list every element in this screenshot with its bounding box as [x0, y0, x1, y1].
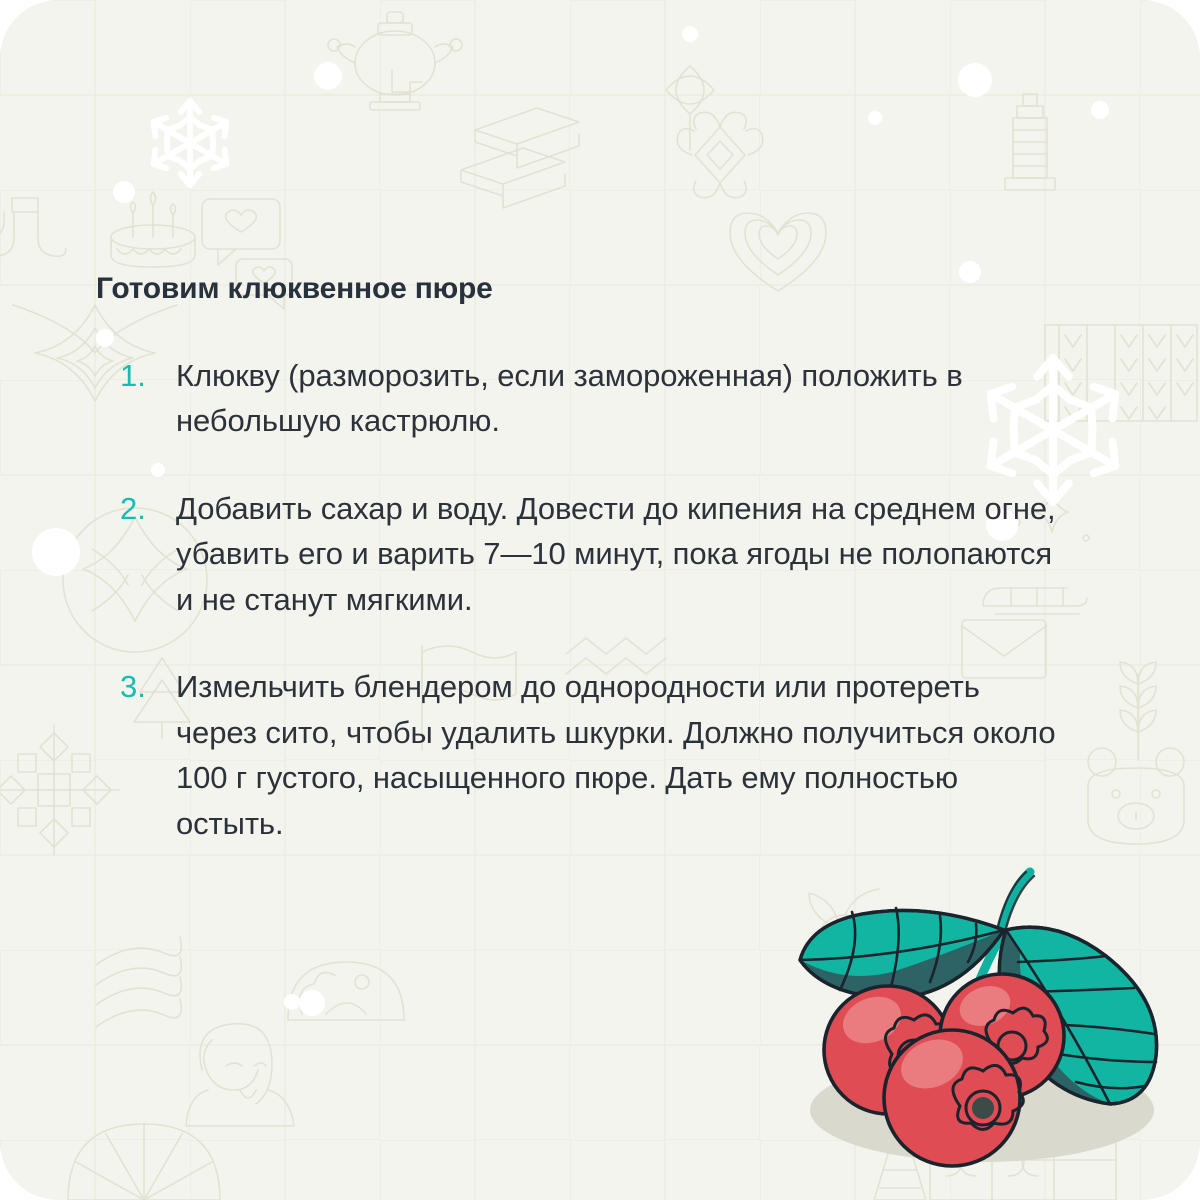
lighthouse-icon: [1005, 94, 1055, 190]
fan-icon: [68, 1124, 220, 1200]
berry-outline-icon: [809, 889, 879, 971]
knot-icon: [666, 66, 714, 150]
stems: [919, 872, 1030, 990]
bear-icon: [1088, 748, 1184, 844]
cheese-icon: [288, 962, 404, 1020]
step-text: Добавить сахар и воду. Довести до кипени…: [176, 491, 1056, 617]
snowflake-small-top-left: [154, 101, 227, 185]
berry-left: [824, 986, 952, 1114]
samovar-icon: [328, 12, 462, 110]
leaf-right: [999, 927, 1156, 1104]
portrait-icon: [186, 1024, 294, 1126]
berry-front: [884, 1030, 1023, 1166]
list-item: 2. Добавить сахар и воду. Довести до кип…: [96, 486, 1056, 623]
ornament-icon: [677, 112, 762, 197]
berry-crown: [953, 1065, 1023, 1129]
wheat-icon: [1120, 662, 1156, 760]
berry-crown: [986, 1008, 1047, 1063]
berry-right: [940, 974, 1064, 1098]
berry-crown: [885, 1015, 951, 1076]
leaf-left: [800, 908, 1004, 998]
sweater-pattern-icon: [1045, 325, 1197, 421]
step-number: 2.: [120, 486, 166, 532]
recipe-card: Готовим клюквенное пюре 1. Клюкву (размо…: [0, 0, 1200, 1200]
step-text: Измельчить блендером до однородности или…: [176, 669, 1056, 841]
step-number: 3.: [120, 664, 166, 710]
stem-outlines: [998, 872, 1034, 928]
books-icon: [461, 108, 579, 208]
illustration-shadow: [810, 1058, 1154, 1162]
quilt-icon: [930, 1082, 1116, 1200]
waves-icon: [96, 937, 181, 1027]
list-item: 1. Клюкву (разморозить, если замороженна…: [96, 353, 1056, 444]
steps-list: 1. Клюкву (разморозить, если замороженна…: [96, 353, 1056, 847]
list-item: 3. Измельчить блендером до однородности …: [96, 664, 1056, 846]
page-title: Готовим клюквенное пюре: [96, 272, 1056, 307]
step-number: 1.: [120, 353, 166, 399]
cranberry-illustration: [780, 848, 1200, 1200]
recipe-content: Готовим клюквенное пюре 1. Клюкву (размо…: [96, 272, 1056, 847]
step-text: Клюкву (разморозить, если замороженная) …: [176, 358, 963, 439]
rig-icon: [874, 1100, 926, 1200]
socks-icon: [0, 198, 66, 256]
cake-icon: [111, 192, 195, 267]
